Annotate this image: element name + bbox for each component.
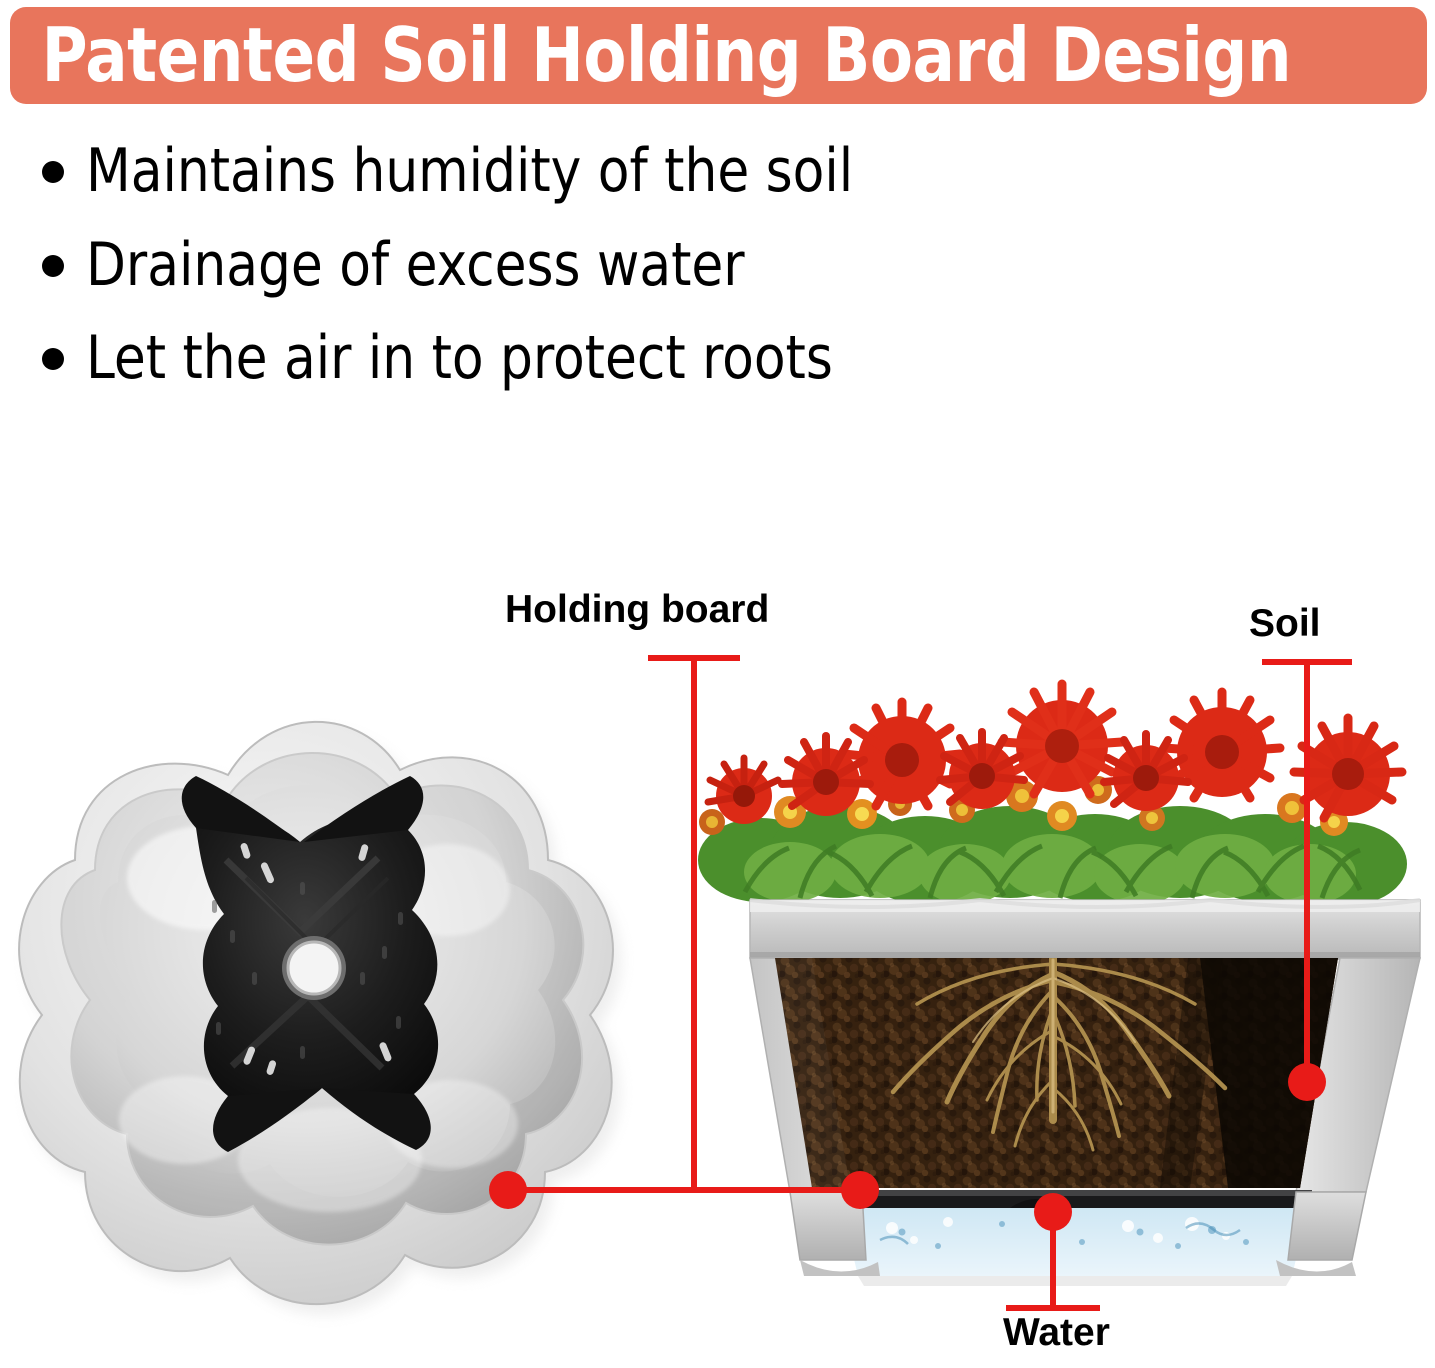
anchor-dot-soil — [1288, 1063, 1326, 1101]
header-banner: Patented Soil Holding Board Design — [10, 7, 1427, 104]
flower-bed — [698, 684, 1407, 906]
feature-list: Maintains humidity of the soil Drainage … — [42, 140, 1142, 421]
feature-text: Drainage of excess water — [86, 234, 745, 298]
page-title: Patented Soil Holding Board Design — [10, 18, 1291, 93]
left-product-photo — [19, 722, 621, 1314]
product-diagram — [0, 560, 1435, 1368]
anchor-dot-holding-board-left — [489, 1171, 527, 1209]
list-item: Let the air in to protect roots — [42, 327, 1142, 391]
feature-text: Let the air in to protect roots — [86, 327, 833, 391]
anchor-dot-water — [1034, 1193, 1072, 1231]
base-lip — [858, 1276, 1292, 1286]
list-item: Maintains humidity of the soil — [42, 140, 1142, 204]
anchor-dot-holding-board-right — [841, 1171, 879, 1209]
bullet-dot-icon — [42, 348, 64, 370]
feature-text: Maintains humidity of the soil — [86, 140, 853, 204]
base-foot-right — [1288, 1192, 1366, 1260]
list-item: Drainage of excess water — [42, 234, 1142, 298]
soil-texture — [770, 950, 1350, 1200]
shelf-highlight — [838, 1190, 1312, 1196]
bullet-dot-icon — [42, 255, 64, 277]
bullet-dot-icon — [42, 161, 64, 183]
infographic-page: Patented Soil Holding Board Design Maint… — [0, 0, 1435, 1368]
